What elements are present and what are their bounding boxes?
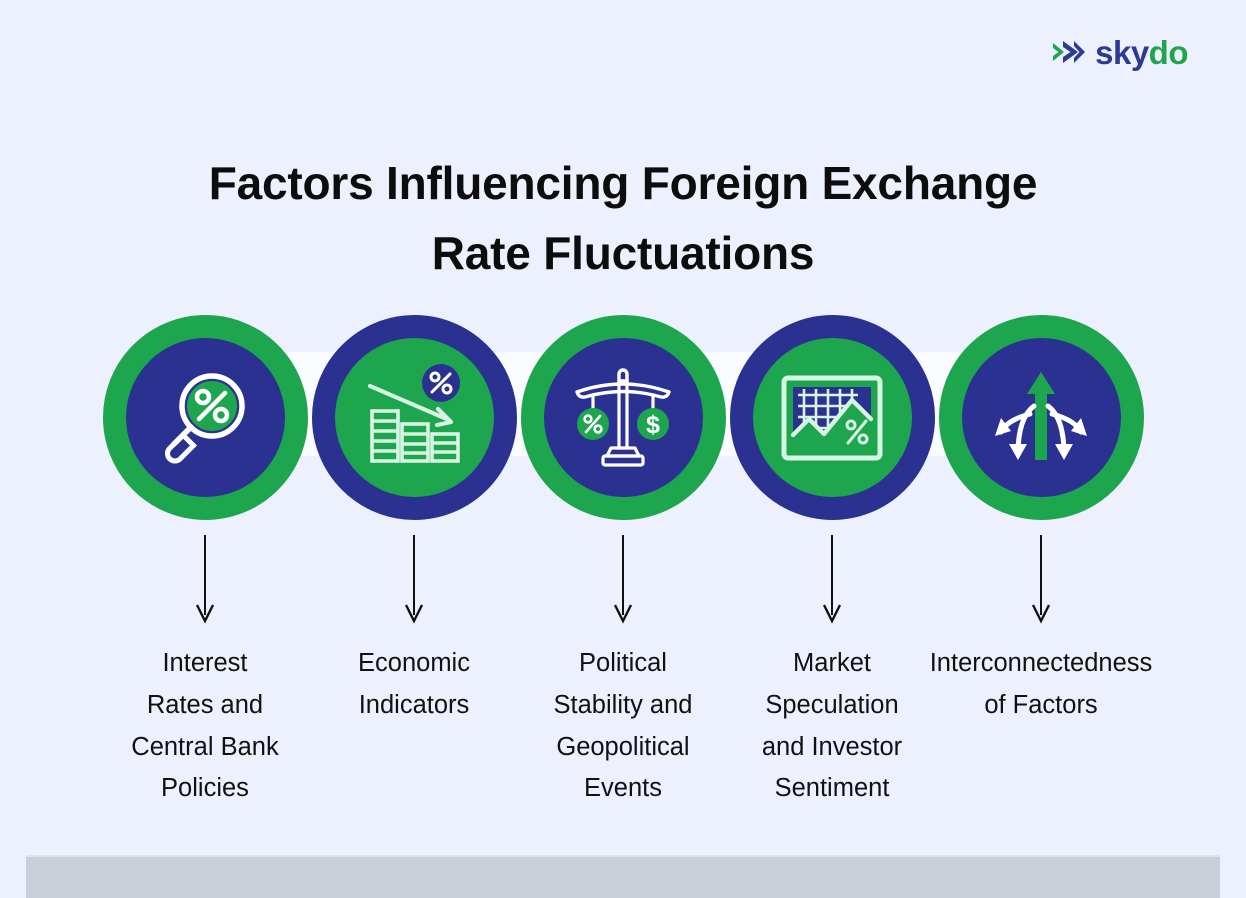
factor-label-4-line-3: and Investor [762, 727, 902, 769]
balance-scale-percent-dollar-icon: $ [567, 362, 679, 474]
brand-name-part2: do [1149, 34, 1188, 71]
factor-label-4-line-2: Speculation [762, 685, 902, 727]
brand-logo: skydo [1052, 32, 1188, 72]
factor-icon-circle-4[interactable] [730, 315, 935, 520]
connector-arrow-3 [613, 535, 633, 625]
factor-label-5-line-2: of Factors [930, 685, 1153, 727]
factor-list: Interest Rates and Central Bank Policies [0, 315, 1246, 810]
factor-label-5-line-1: Interconnectedness [930, 643, 1153, 685]
factor-label-1-line-2: Rates and [131, 685, 278, 727]
factor-icon-inner-5 [962, 338, 1121, 497]
factor-label-4-line-4: Sentiment [762, 768, 902, 810]
factor-label-4: Market Speculation and Investor Sentimen… [762, 643, 902, 810]
factor-label-3-line-2: Stability and [554, 685, 693, 727]
factor-icon-inner-1 [126, 338, 285, 497]
connector-arrow-4 [822, 535, 842, 625]
page-title-line-2: Rate Fluctuations [0, 219, 1246, 289]
factor-label-3-line-3: Geopolitical [554, 727, 693, 769]
brand-name-part1: sky [1095, 34, 1149, 71]
factor-column-market-speculation[interactable]: Market Speculation and Investor Sentimen… [729, 315, 936, 810]
connector-arrow-5 [1031, 535, 1051, 625]
brand-name: skydo [1095, 36, 1188, 69]
diverging-arrows-icon [985, 362, 1097, 474]
factor-icon-inner-3: $ [544, 338, 703, 497]
factor-icon-circle-3[interactable]: $ [521, 315, 726, 520]
factor-label-1-line-1: Interest [131, 643, 278, 685]
factor-label-2: Economic Indicators [358, 643, 470, 727]
factor-icon-inner-2 [335, 338, 494, 497]
factor-label-3-line-4: Events [554, 768, 693, 810]
connector-arrow-1 [195, 535, 215, 625]
factor-label-3: Political Stability and Geopolitical Eve… [554, 643, 693, 810]
factor-icon-circle-1[interactable] [103, 315, 308, 520]
factor-label-1-line-4: Policies [131, 768, 278, 810]
connector-arrow-2 [404, 535, 424, 625]
svg-text:$: $ [646, 411, 660, 439]
factor-label-2-line-1: Economic [358, 643, 470, 685]
factor-label-5: Interconnectedness of Factors [930, 643, 1153, 727]
factor-column-interest-rates[interactable]: Interest Rates and Central Bank Policies [102, 315, 309, 810]
page-title: Factors Influencing Foreign Exchange Rat… [0, 149, 1246, 289]
factor-column-economic-indicators[interactable]: Economic Indicators [311, 315, 518, 727]
declining-bar-chart-percent-icon [358, 362, 470, 474]
factor-label-1-line-3: Central Bank [131, 727, 278, 769]
factor-icon-circle-2[interactable] [312, 315, 517, 520]
skydo-chevron-icon [1052, 37, 1086, 67]
down-arrow-icon [195, 535, 215, 625]
factor-label-2-line-2: Indicators [358, 685, 470, 727]
framed-line-chart-percent-icon [776, 362, 888, 474]
page-title-line-1: Factors Influencing Foreign Exchange [0, 149, 1246, 219]
down-arrow-icon [613, 535, 633, 625]
factor-icon-circle-5[interactable] [939, 315, 1144, 520]
factor-label-3-line-1: Political [554, 643, 693, 685]
down-arrow-icon [1031, 535, 1051, 625]
factor-column-interconnectedness[interactable]: Interconnectedness of Factors [938, 315, 1145, 727]
magnifier-percent-icon [150, 363, 260, 473]
factor-icon-inner-4 [753, 338, 912, 497]
bottom-bar [26, 855, 1220, 898]
factor-column-political-stability[interactable]: $ Political Stability and Geopolitical E… [520, 315, 727, 810]
down-arrow-icon [404, 535, 424, 625]
factor-label-1: Interest Rates and Central Bank Policies [131, 643, 278, 810]
down-arrow-icon [822, 535, 842, 625]
factor-label-4-line-1: Market [762, 643, 902, 685]
